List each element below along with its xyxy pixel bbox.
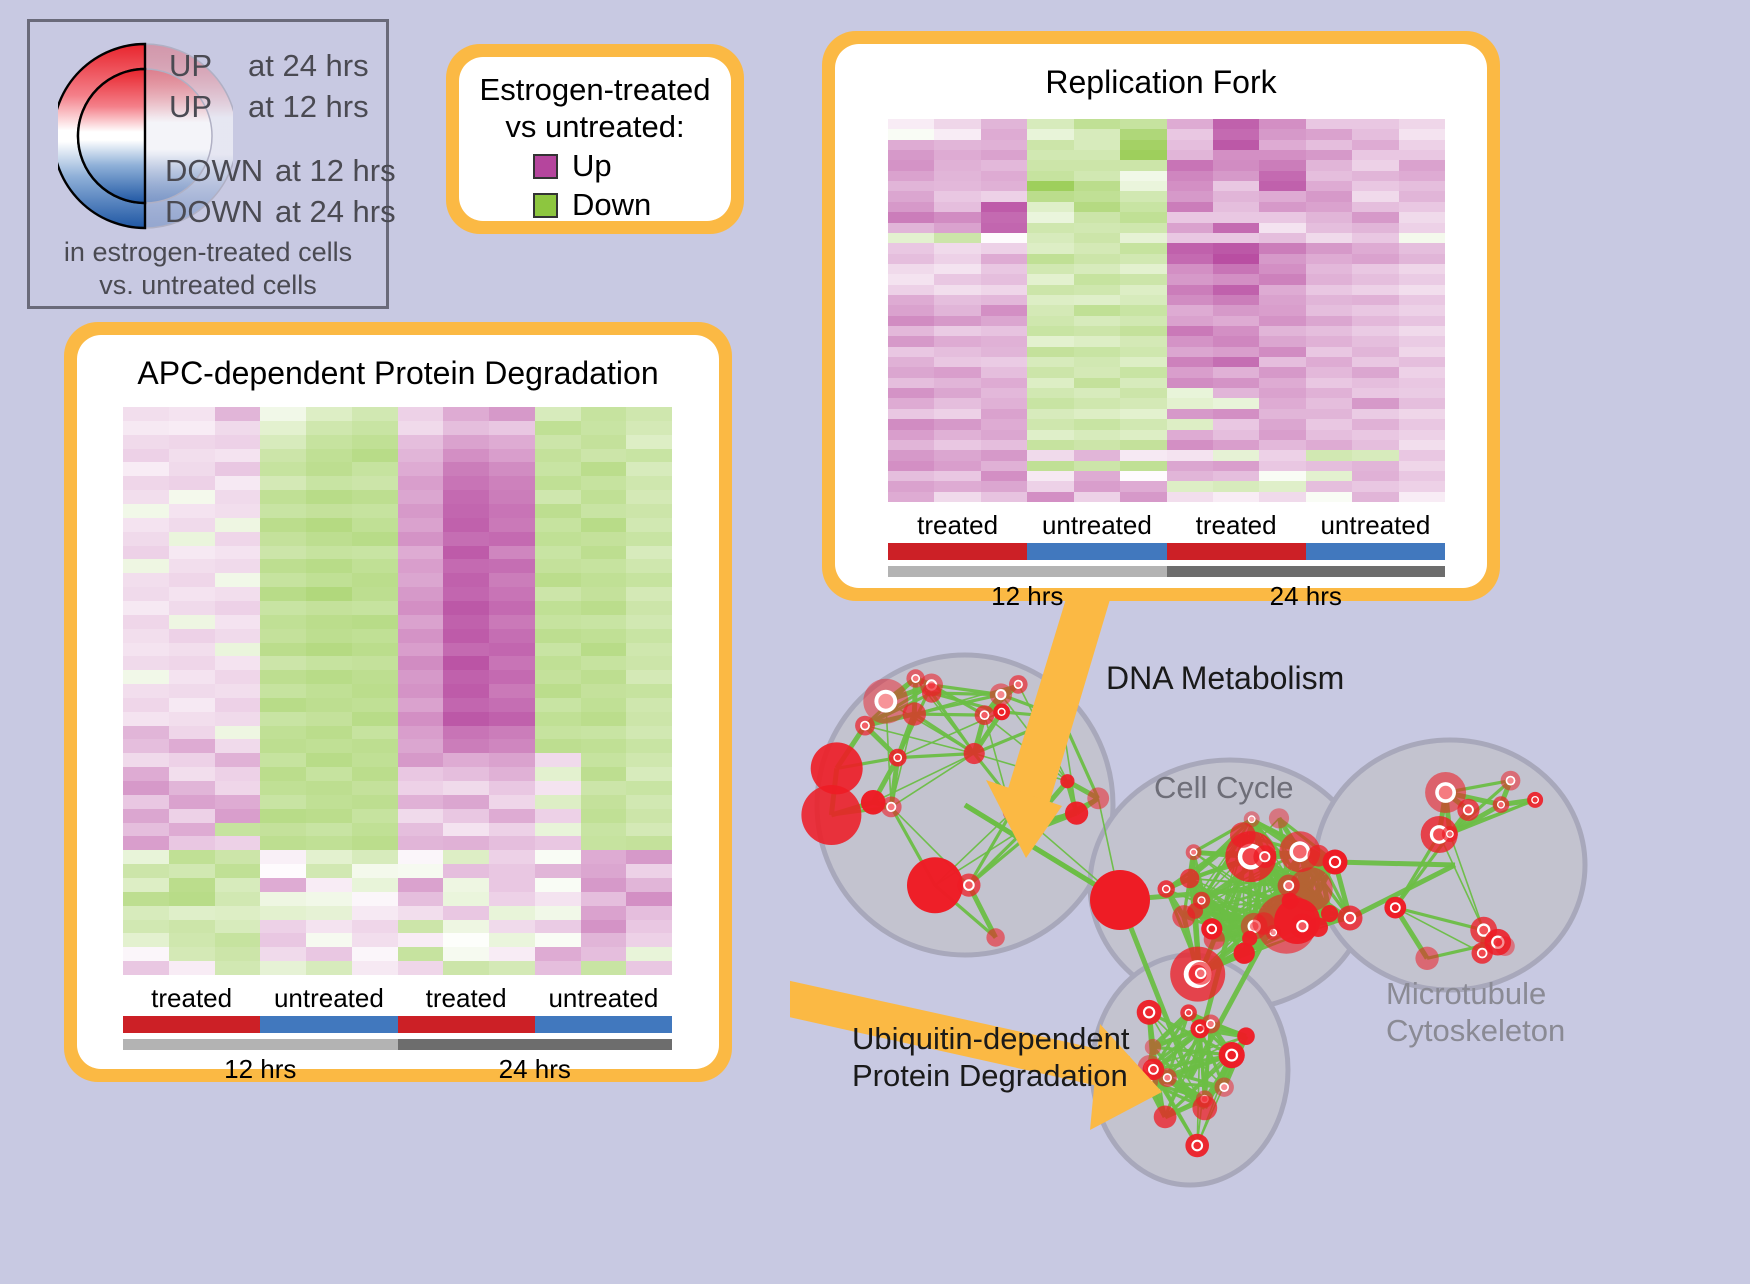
network-node[interactable]: [1321, 905, 1338, 922]
heatmap-cell: [352, 518, 398, 532]
heatmap-cell: [260, 961, 306, 975]
heatmap-cell: [1213, 461, 1259, 471]
heatmap-cell: [1074, 378, 1120, 388]
network-node[interactable]: [1186, 844, 1202, 860]
heatmap-cell: [934, 129, 980, 139]
heatmap-cell: [934, 160, 980, 170]
heatmap-cell: [981, 181, 1027, 191]
cluster-label-ubiquitin-degradation: Ubiquitin-dependent Protein Degradation: [852, 1020, 1130, 1094]
column-group-color-bar: [398, 1016, 535, 1033]
heatmap-cell: [1120, 150, 1166, 160]
heatmap-cell: [123, 559, 169, 573]
heatmap-cell: [1027, 140, 1073, 150]
network-node[interactable]: [1009, 675, 1028, 694]
heatmap-cell: [169, 573, 215, 587]
heatmap-cell: [352, 947, 398, 961]
heatmap-cell: [443, 670, 489, 684]
heatmap-cell: [1399, 191, 1445, 201]
heatmap-cell: [934, 285, 980, 295]
heatmap-cell: [260, 739, 306, 753]
heatmap-cell: [535, 462, 581, 476]
heatmap-cell: [535, 601, 581, 615]
heatmap-cell: [306, 435, 352, 449]
heatmap-cell: [352, 421, 398, 435]
heatmap-cell: [1213, 171, 1259, 181]
heatmap-cell: [443, 407, 489, 421]
heatmap-cell: [1167, 481, 1213, 491]
network-node[interactable]: [863, 679, 908, 724]
heatmap-cell: [1259, 481, 1305, 491]
heatmap-cell: [1027, 481, 1073, 491]
network-node[interactable]: [957, 874, 980, 897]
heatmap-cell: [352, 546, 398, 560]
heatmap-cell: [934, 357, 980, 367]
heatmap-cell: [306, 947, 352, 961]
network-node[interactable]: [1323, 850, 1348, 875]
heatmap-cell: [489, 739, 535, 753]
heatmap-cell: [398, 836, 444, 850]
heatmap-cell: [1352, 388, 1398, 398]
heatmap-cell: [888, 274, 934, 284]
heatmap-cell: [581, 629, 627, 643]
heatmap-cell: [1120, 336, 1166, 346]
wheel-time-3: at 24 hrs: [275, 194, 396, 230]
heatmap-cell: [581, 739, 627, 753]
heatmap-cell: [581, 809, 627, 823]
heatmap-cell: [1306, 181, 1352, 191]
heatmap-cell: [398, 421, 444, 435]
heatmap-cell: [626, 601, 672, 615]
network-node[interactable]: [1154, 1106, 1177, 1129]
network-node[interactable]: [1185, 1134, 1209, 1158]
network-node[interactable]: [1201, 1015, 1220, 1034]
heatmap-cell: [398, 933, 444, 947]
network-node[interactable]: [1090, 870, 1150, 930]
heatmap-cell: [215, 559, 261, 573]
heatmap-cell: [1027, 367, 1073, 377]
heatmap-cell: [1120, 357, 1166, 367]
heatmap-cell: [1167, 150, 1213, 160]
heatmap-cell: [535, 698, 581, 712]
heatmap-cell: [169, 836, 215, 850]
heatmap-cell: [981, 450, 1027, 460]
heatmap-cell: [443, 559, 489, 573]
heatmap-cell: [489, 490, 535, 504]
heatmap-cell: [888, 254, 934, 264]
heatmap-cell: [1027, 233, 1073, 243]
heatmap-cell: [581, 947, 627, 961]
heatmap-cell: [1074, 264, 1120, 274]
heatmap-cell: [352, 920, 398, 934]
network-node[interactable]: [1495, 936, 1515, 956]
heatmap-cell: [1259, 191, 1305, 201]
heatmap-cell: [535, 739, 581, 753]
heatmap-cell: [934, 119, 980, 129]
heatmap-cell: [1399, 274, 1445, 284]
network-node[interactable]: [1472, 942, 1493, 963]
heatmap-cell: [1027, 398, 1073, 408]
heatmap-cell: [1167, 409, 1213, 419]
heatmap-cell: [581, 864, 627, 878]
heatmap-cell: [169, 435, 215, 449]
heatmap-cell: [1213, 233, 1259, 243]
network-svg: [790, 600, 1750, 1279]
heatmap-cell: [981, 398, 1027, 408]
heatmap-cell: [215, 490, 261, 504]
heatmap-cell: [169, 781, 215, 795]
heatmap-cell: [306, 850, 352, 864]
heatmap-cell: [489, 656, 535, 670]
heatmap-cell: [1259, 243, 1305, 253]
heatmap-cell: [535, 615, 581, 629]
network-node[interactable]: [1244, 811, 1260, 827]
heatmap-cell: [981, 212, 1027, 222]
heatmap-cell: [1120, 481, 1166, 491]
heatmap-cell: [581, 933, 627, 947]
heatmap-cell: [1259, 254, 1305, 264]
heatmap-cell: [1259, 430, 1305, 440]
heatmap-cell: [1120, 285, 1166, 295]
heatmap-cell: [1259, 367, 1305, 377]
heatmap-cell: [581, 643, 627, 657]
heatmap-cell: [443, 823, 489, 837]
heatmap-cell: [169, 961, 215, 975]
heatmap-cell: [443, 753, 489, 767]
network-node[interactable]: [975, 705, 995, 725]
heatmap-cell: [443, 739, 489, 753]
heatmap-cell: [352, 961, 398, 975]
heatmap-cell: [1352, 316, 1398, 326]
heatmap-cell: [934, 492, 980, 502]
heatmap-cell: [581, 726, 627, 740]
heatmap-cell: [1213, 295, 1259, 305]
heatmap-cell: [260, 587, 306, 601]
heatmap-cell: [352, 629, 398, 643]
heatmap-cell: [123, 504, 169, 518]
heatmap-cell: [888, 419, 934, 429]
heatmap-cell: [443, 601, 489, 615]
network-node[interactable]: [1457, 799, 1479, 821]
network-node[interactable]: [1060, 774, 1074, 788]
heatmap-cell: [934, 316, 980, 326]
network-node[interactable]: [1192, 1096, 1217, 1121]
column-group-label: untreated: [260, 983, 397, 1014]
heatmap-cell: [1167, 119, 1213, 129]
heatmap-cell: [306, 462, 352, 476]
apc-axis: treateduntreatedtreateduntreated 12 hrs2…: [123, 983, 672, 1085]
heatmap-cell: [169, 712, 215, 726]
heatmap-cell: [1399, 295, 1445, 305]
heatmap-cell: [934, 150, 980, 160]
heatmap-cell: [1074, 233, 1120, 243]
heatmap-cell: [260, 518, 306, 532]
heatmap-cell: [1074, 223, 1120, 233]
heatmap-cell: [626, 767, 672, 781]
heatmap-cell: [581, 532, 627, 546]
network-node[interactable]: [993, 704, 1010, 721]
heatmap-cell: [1167, 233, 1213, 243]
heatmap-cell: [123, 629, 169, 643]
heatmap-cell: [398, 850, 444, 864]
heatmap-cell: [352, 476, 398, 490]
heatmap-cell: [169, 462, 215, 476]
heatmap-cell: [352, 726, 398, 740]
network-node[interactable]: [1338, 906, 1363, 931]
heatmap-cell: [934, 440, 980, 450]
heatmap-cell: [169, 698, 215, 712]
heatmap-cell: [581, 504, 627, 518]
heatmap-cell: [888, 471, 934, 481]
replication-fork-heatmap: [888, 119, 1445, 502]
heatmap-cell: [306, 546, 352, 560]
heatmap-cell: [1213, 326, 1259, 336]
heatmap-cell: [398, 449, 444, 463]
heatmap-cell: [169, 449, 215, 463]
heatmap-cell: [535, 435, 581, 449]
heatmap-cell: [1074, 140, 1120, 150]
heatmap-cell: [352, 878, 398, 892]
network-node[interactable]: [1158, 880, 1175, 897]
network-node[interactable]: [1501, 771, 1521, 791]
heatmap-cell: [1399, 243, 1445, 253]
heatmap-cell: [1027, 305, 1073, 315]
network-node[interactable]: [1252, 912, 1275, 935]
heatmap-cell: [260, 753, 306, 767]
heatmap-cell: [1120, 140, 1166, 150]
heatmap-cell: [306, 836, 352, 850]
heatmap-cell: [1259, 150, 1305, 160]
heatmap-cell: [1120, 388, 1166, 398]
network-node[interactable]: [811, 742, 863, 794]
heatmap-cell: [888, 481, 934, 491]
heatmap-cell: [489, 407, 535, 421]
network-node[interactable]: [861, 790, 886, 815]
apc-group-labels: treateduntreatedtreateduntreated: [123, 983, 672, 1014]
heatmap-cell: [535, 726, 581, 740]
wheel-state-0: UP: [169, 48, 212, 84]
heatmap-cell: [398, 947, 444, 961]
heatmap-cell: [215, 947, 261, 961]
figure-canvas: UP at 24 hrs UP at 12 hrs DOWN at 12 hrs…: [0, 0, 1750, 1279]
heatmap-cell: [626, 684, 672, 698]
heatmap-cell: [626, 712, 672, 726]
heatmap-cell: [981, 409, 1027, 419]
heatmap-cell: [981, 233, 1027, 243]
heatmap-cell: [1074, 202, 1120, 212]
heatmap-cell: [1399, 461, 1445, 471]
heatmap-cell: [1352, 295, 1398, 305]
heatmap-cell: [888, 129, 934, 139]
network-node[interactable]: [907, 857, 963, 913]
network-node[interactable]: [986, 928, 1004, 946]
heatmap-cell: [260, 906, 306, 920]
heatmap-cell: [1213, 305, 1259, 315]
heatmap-cell: [398, 698, 444, 712]
network-node[interactable]: [1145, 1039, 1161, 1055]
heatmap-cell: [535, 643, 581, 657]
heatmap-cell: [981, 254, 1027, 264]
network-node[interactable]: [1087, 787, 1109, 809]
heatmap-cell: [1120, 171, 1166, 181]
heatmap-cell: [443, 435, 489, 449]
heatmap-cell: [489, 518, 535, 532]
heatmap-cell: [489, 462, 535, 476]
heatmap-cell: [934, 336, 980, 346]
heatmap-cell: [981, 461, 1027, 471]
heatmap-cell: [352, 795, 398, 809]
heatmap-cell: [260, 490, 306, 504]
heatmap-cell: [352, 435, 398, 449]
network-node[interactable]: [1189, 962, 1212, 985]
network-node[interactable]: [1442, 826, 1458, 842]
network-node[interactable]: [1137, 1000, 1162, 1025]
heatmap-cell: [981, 440, 1027, 450]
heatmap-cell: [1352, 233, 1398, 243]
heatmap-cell: [260, 629, 306, 643]
column-group-color-bar: [1167, 543, 1306, 560]
heatmap-cell: [1306, 398, 1352, 408]
heatmap-cell: [215, 920, 261, 934]
heatmap-cell: [1352, 160, 1398, 170]
heatmap-cell: [1399, 181, 1445, 191]
heatmap-cell: [489, 573, 535, 587]
heatmap-cell: [169, 656, 215, 670]
heatmap-cell: [888, 367, 934, 377]
network-node[interactable]: [889, 749, 907, 767]
heatmap-cell: [1167, 212, 1213, 222]
network-node[interactable]: [1493, 796, 1510, 813]
heatmap-cell: [888, 316, 934, 326]
time-group-label: 24 hrs: [398, 1054, 673, 1085]
network-node[interactable]: [1415, 947, 1438, 970]
heatmap-cell: [1213, 481, 1259, 491]
heatmap-cell: [1352, 440, 1398, 450]
heatmap-cell: [888, 336, 934, 346]
heatmap-cell: [123, 643, 169, 657]
heatmap-cell: [581, 490, 627, 504]
network-node[interactable]: [1527, 792, 1543, 808]
heatmap-cell: [352, 864, 398, 878]
heatmap-cell: [1167, 336, 1213, 346]
heatmap-cell: [626, 781, 672, 795]
heatmap-cell: [981, 223, 1027, 233]
heatmap-cell: [398, 532, 444, 546]
heatmap-cell: [1259, 398, 1305, 408]
heatmap-cell: [1306, 357, 1352, 367]
network-node[interactable]: [922, 683, 941, 702]
heatmap-cell: [260, 947, 306, 961]
network-node[interactable]: [1219, 1042, 1245, 1068]
network-node[interactable]: [1269, 808, 1289, 828]
network-node[interactable]: [1242, 931, 1257, 946]
heatmap-cell: [1352, 326, 1398, 336]
heatmap-cell: [489, 947, 535, 961]
heatmap-cell: [1167, 202, 1213, 212]
heatmap-cell: [1074, 409, 1120, 419]
network-node[interactable]: [1180, 1004, 1197, 1021]
heatmap-cell: [1120, 326, 1166, 336]
network-node[interactable]: [964, 743, 985, 764]
network-node[interactable]: [1384, 897, 1406, 919]
network-node[interactable]: [1278, 875, 1300, 897]
network-node[interactable]: [1201, 918, 1222, 939]
heatmap-cell: [1074, 398, 1120, 408]
heatmap-cell: [1167, 471, 1213, 481]
up-swatch-icon: [533, 154, 558, 179]
heatmap-cell: [535, 476, 581, 490]
heatmap-cell: [626, 933, 672, 947]
heatmap-cell: [981, 367, 1027, 377]
heatmap-cell: [1352, 150, 1398, 160]
heatmap-cell: [1352, 264, 1398, 274]
replication-fork-title: Replication Fork: [835, 44, 1487, 101]
heatmap-cell: [123, 421, 169, 435]
heatmap-cell: [1399, 140, 1445, 150]
heatmap-cell: [215, 961, 261, 975]
heatmap-cell: [1399, 336, 1445, 346]
heatmap-cell: [1306, 243, 1352, 253]
heatmap-cell: [934, 264, 980, 274]
heatmap-cell: [1306, 378, 1352, 388]
heatmap-cell: [1120, 274, 1166, 284]
heatmap-cell: [398, 753, 444, 767]
heatmap-cell: [1120, 295, 1166, 305]
heatmap-cell: [1399, 212, 1445, 222]
heatmap-cell: [981, 191, 1027, 201]
network-node[interactable]: [1237, 1027, 1255, 1045]
heatmap-cell: [169, 670, 215, 684]
heatmap-cell: [981, 285, 1027, 295]
heatmap-cell: [1027, 471, 1073, 481]
network-node[interactable]: [1253, 845, 1276, 868]
heatmap-cell: [260, 504, 306, 518]
network-node[interactable]: [801, 785, 861, 845]
heatmap-cell: [1074, 243, 1120, 253]
apc-time-bar: [123, 1039, 672, 1050]
heatmap-cell: [1120, 450, 1166, 460]
heatmap-cell: [888, 181, 934, 191]
heatmap-cell: [1027, 357, 1073, 367]
network-node[interactable]: [903, 702, 926, 725]
heatmap-cell: [1120, 419, 1166, 429]
heatmap-cell: [1074, 450, 1120, 460]
network-node[interactable]: [1180, 869, 1199, 888]
heatmap-cell: [1352, 367, 1398, 377]
heatmap-cell: [443, 767, 489, 781]
heatmap-cell: [1213, 450, 1259, 460]
network-node[interactable]: [990, 683, 1012, 705]
heatmap-cell: [1399, 233, 1445, 243]
network-node[interactable]: [1215, 1078, 1234, 1097]
heatmap-cell: [1120, 243, 1166, 253]
wheel-time-1: at 12 hrs: [248, 89, 369, 125]
network-node[interactable]: [1193, 892, 1210, 909]
heatmap-cell: [1074, 191, 1120, 201]
network-node[interactable]: [1065, 802, 1088, 825]
network-node[interactable]: [855, 716, 875, 736]
heatmap-cell: [1213, 150, 1259, 160]
heatmap-cell: [1027, 378, 1073, 388]
heatmap-cell: [443, 726, 489, 740]
heatmap-cell: [581, 462, 627, 476]
heatmap-cell: [1167, 357, 1213, 367]
heatmap-cell: [306, 670, 352, 684]
heatmap-cell: [888, 264, 934, 274]
heatmap-cell: [1167, 378, 1213, 388]
heatmap-cell: [1306, 295, 1352, 305]
heatmap-cell: [260, 795, 306, 809]
heatmap-cell: [1120, 440, 1166, 450]
